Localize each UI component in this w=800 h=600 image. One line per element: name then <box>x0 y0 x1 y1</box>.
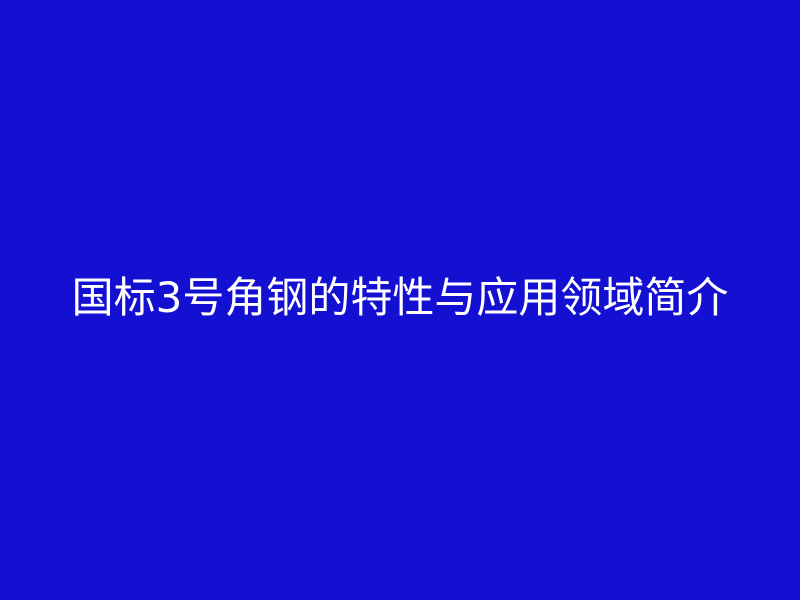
slide-title: 国标3号角钢的特性与应用领域简介 <box>40 273 760 323</box>
title-area: 国标3号角钢的特性与应用领域简介 <box>0 273 800 323</box>
title-slide: 国标3号角钢的特性与应用领域简介 <box>0 0 800 600</box>
